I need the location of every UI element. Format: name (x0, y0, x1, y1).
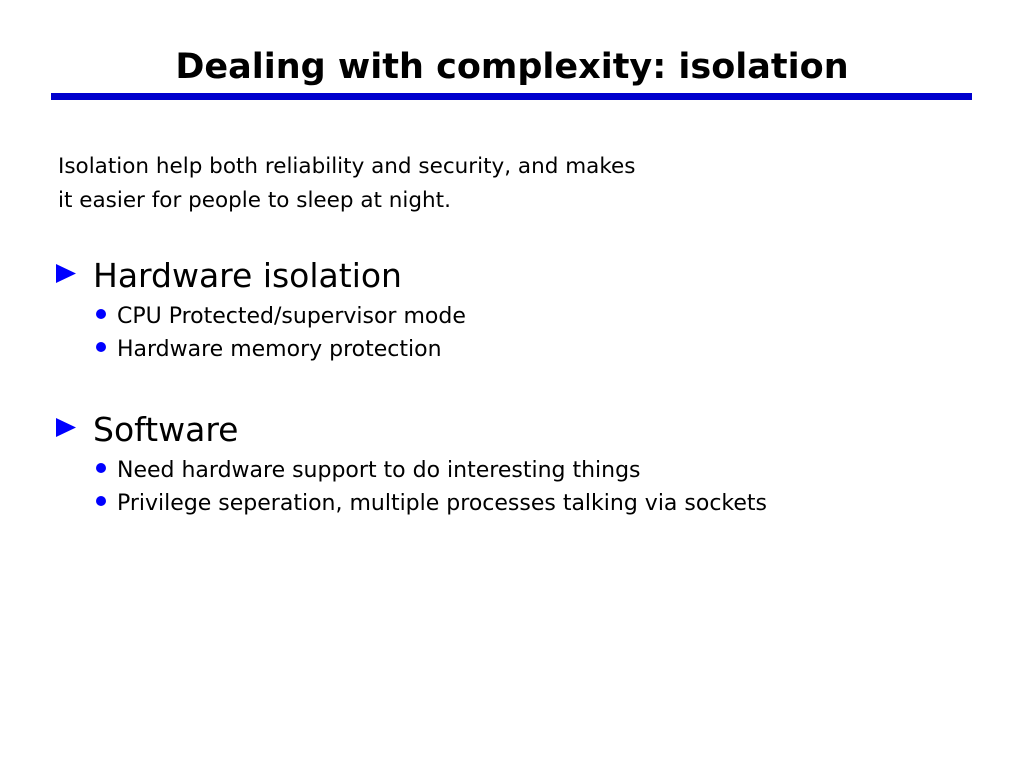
presentation-slide: Dealing with complexity: isolation Isola… (0, 0, 1024, 768)
dot-bullet-icon (96, 342, 106, 352)
slide-title-block: Dealing with complexity: isolation (0, 46, 1024, 88)
section-heading-hardware-isolation: Hardware isolation (93, 256, 402, 296)
intro-line-1: Isolation help both reliability and secu… (58, 150, 888, 184)
sub-bullet-label: CPU Protected/supervisor mode (117, 300, 466, 333)
bullet-section-software: Software Need hardware support to do int… (56, 410, 996, 520)
sub-bullet-label: Privilege seperation, multiple processes… (117, 487, 767, 520)
list-item: Privilege seperation, multiple processes… (56, 487, 996, 520)
title-underline-rule (51, 93, 972, 100)
triangle-right-icon (56, 264, 76, 283)
dot-bullet-icon (96, 496, 106, 506)
list-item: CPU Protected/supervisor mode (56, 300, 996, 333)
bullet-level1-hardware-isolation: Hardware isolation (56, 256, 996, 296)
sub-bullet-list-software: Need hardware support to do interesting … (56, 454, 996, 520)
list-item: Hardware memory protection (56, 333, 996, 366)
triangle-right-icon (56, 418, 76, 437)
bullet-section-hardware-isolation: Hardware isolation CPU Protected/supervi… (56, 256, 996, 366)
dot-bullet-icon (96, 309, 106, 319)
section-heading-software: Software (93, 410, 238, 450)
page-title: Dealing with complexity: isolation (0, 46, 1024, 88)
sub-bullet-label: Hardware memory protection (117, 333, 442, 366)
sub-bullet-label: Need hardware support to do interesting … (117, 454, 641, 487)
sub-bullet-list-hardware: CPU Protected/supervisor mode Hardware m… (56, 300, 996, 366)
intro-line-2: it easier for people to sleep at night. (58, 184, 888, 218)
list-item: Need hardware support to do interesting … (56, 454, 996, 487)
intro-paragraph: Isolation help both reliability and secu… (58, 150, 888, 218)
dot-bullet-icon (96, 463, 106, 473)
bullet-level1-software: Software (56, 410, 996, 450)
